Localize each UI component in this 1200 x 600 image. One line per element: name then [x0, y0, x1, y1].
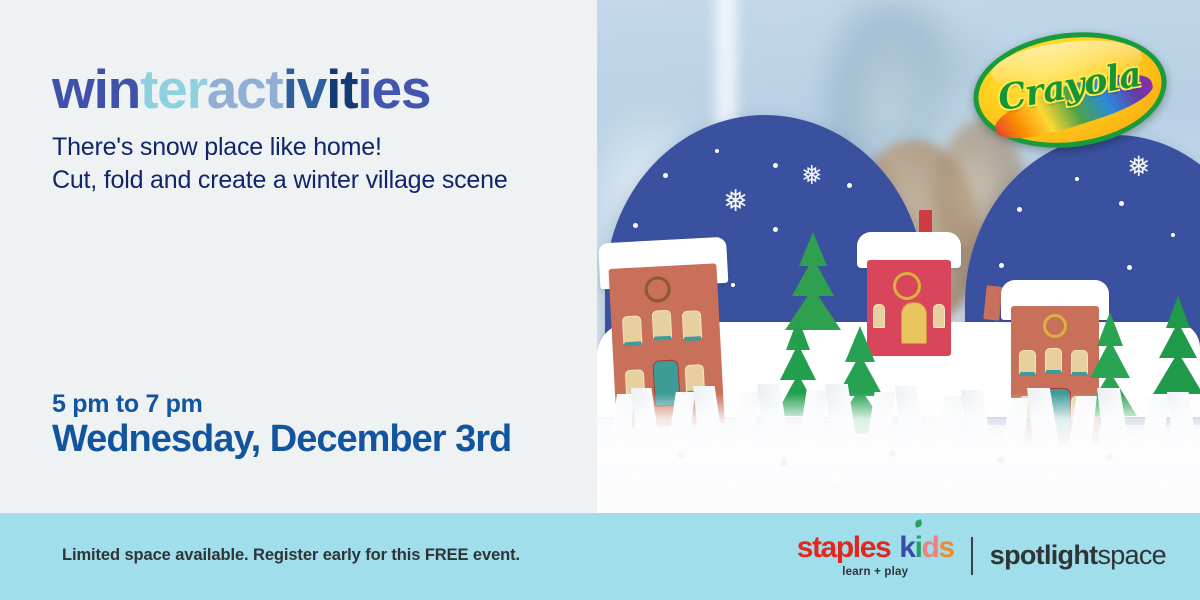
staples-wordmark: staples: [797, 533, 891, 563]
house-wreath: [1043, 314, 1067, 338]
staples-kids-wordmark: staples k i d s: [797, 533, 954, 563]
snow-dot: [773, 163, 778, 168]
snow-texture: [597, 417, 1200, 513]
spotlight-bold-part: spotlight: [990, 540, 1098, 570]
house-window: [1045, 348, 1062, 372]
snowflake-icon: ❅: [723, 187, 748, 217]
kids-letter-i: i: [915, 533, 922, 563]
snow-dot: [1171, 233, 1175, 237]
snow-dot: [1119, 201, 1124, 206]
house-window: [682, 310, 702, 339]
left-text-panel: winteractivities There's snow place like…: [0, 0, 597, 513]
headline-segment-win: win: [52, 58, 140, 120]
event-date: Wednesday, December 3rd: [52, 418, 511, 461]
subtitle: There's snow place like home! Cut, fold …: [52, 131, 508, 198]
headline-segment-iv: iv: [283, 58, 326, 120]
kids-letter-s: s: [938, 533, 953, 563]
headline-segment-it: it: [326, 58, 357, 120]
headline-segment-ies: ies: [357, 58, 430, 120]
event-time: 5 pm to 7 pm: [52, 390, 203, 419]
house-window: [622, 315, 642, 344]
kids-letter-d: d: [922, 533, 939, 563]
staples-kids-logo[interactable]: staples k i d s learn + play: [797, 533, 954, 579]
house-window: [933, 304, 945, 328]
kids-letter-k: k: [899, 533, 914, 563]
snow-dot: [1075, 177, 1079, 181]
snow-dot: [847, 183, 852, 188]
snow-dot: [731, 283, 735, 287]
house-window: [873, 304, 885, 328]
headline-segment-act: act: [207, 58, 283, 120]
kids-letter-i-glyph: i: [915, 531, 922, 564]
house-chimney: [983, 285, 1002, 320]
snow-dot: [663, 173, 668, 178]
spotlight-light-part: space: [1097, 540, 1166, 570]
snow-dot: [1017, 207, 1022, 212]
house-door: [901, 302, 927, 344]
sprout-leaf-icon: [914, 519, 923, 528]
subtitle-line-1: There's snow place like home!: [52, 131, 508, 164]
snowflake-icon: ❅: [801, 163, 823, 189]
crayola-logo: Crayola: [967, 22, 1173, 159]
snowflake-icon: ❅: [1127, 153, 1150, 181]
registration-note: Limited space available. Register early …: [62, 546, 520, 565]
subtitle-line-2: Cut, fold and create a winter village sc…: [52, 164, 508, 197]
spotlightspace-logo[interactable]: spotlightspace: [990, 540, 1166, 571]
page-title: winteractivities: [52, 62, 430, 117]
house-window: [652, 310, 672, 339]
logo-group: staples k i d s learn + play spotlightsp…: [797, 533, 1166, 579]
event-banner: winteractivities There's snow place like…: [0, 0, 1200, 600]
snow-dot: [715, 149, 719, 153]
house-window: [1019, 350, 1036, 374]
snow-dot: [1127, 265, 1132, 270]
headline-segment-ter: ter: [140, 58, 207, 120]
snow-dot: [773, 227, 778, 232]
house-wreath: [893, 272, 921, 300]
staples-kids-tagline: learn + play: [842, 567, 908, 579]
bottom-bar: Limited space available. Register early …: [0, 513, 1200, 600]
snow-dot: [633, 223, 638, 228]
logo-divider: [971, 537, 973, 575]
paper-tree: [785, 232, 841, 330]
